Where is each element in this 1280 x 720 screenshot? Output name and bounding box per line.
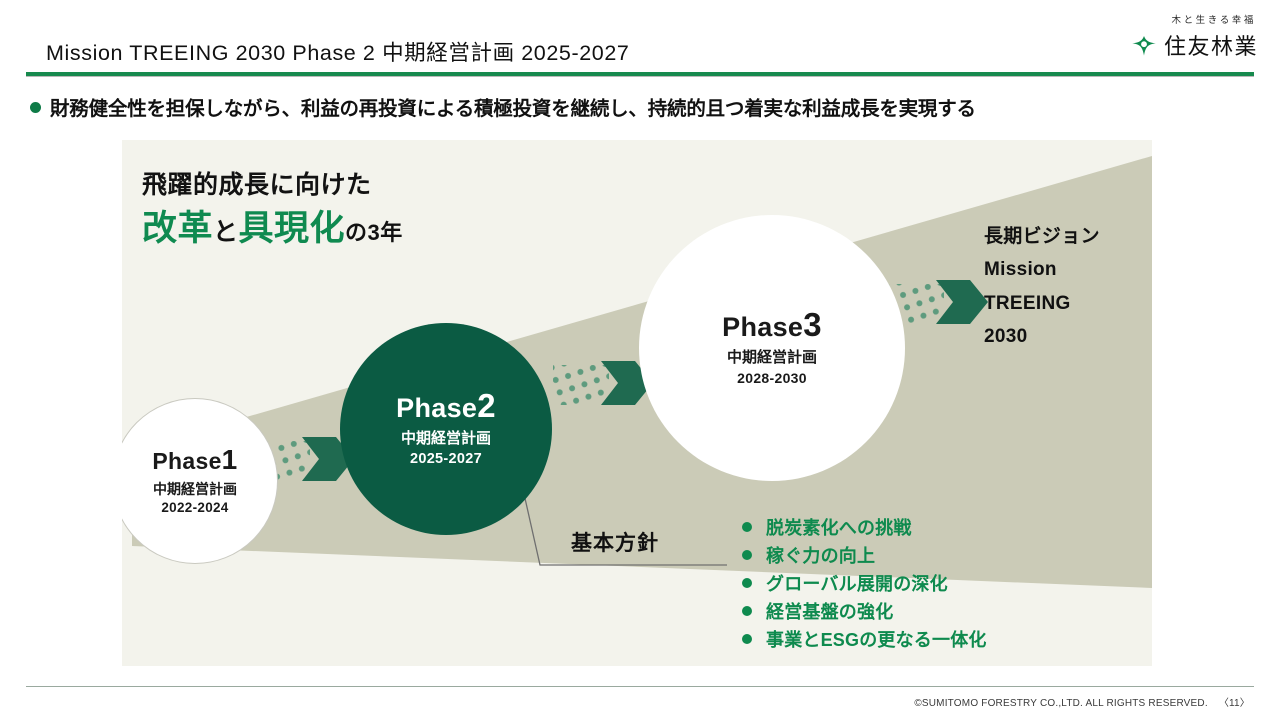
basic-policy-label: 基本方針 <box>571 527 659 557</box>
brand-tagline: 木と生きる幸福 <box>1058 12 1258 26</box>
headline-line-1: 飛躍的成長に向けた <box>142 170 662 201</box>
vision-line-4: 2030 <box>984 320 1152 353</box>
phase-2-subtitle: 中期経営計画 <box>401 430 491 449</box>
bullet-dot-icon <box>742 578 752 588</box>
phase-2-name: Phase2 <box>396 390 496 423</box>
vision-line-1: 長期ビジョン <box>984 220 1152 253</box>
footer: ©SUMITOMO FORESTRY CO.,LTD. ALL RIGHTS R… <box>914 694 1250 709</box>
arrow-phase3-to-vision <box>888 280 988 324</box>
phase-2-circle[interactable]: Phase2 中期経営計画 2025-2027 <box>340 323 552 535</box>
phase-3-subtitle: 中期経営計画 <box>727 349 817 368</box>
headline-tail: の3年 <box>345 220 403 245</box>
policy-item-label: 経営基盤の強化 <box>766 598 893 624</box>
footer-rule <box>26 686 1254 687</box>
list-item: 稼ぐ力の向上 <box>742 541 1082 569</box>
headline-accent-1: 改革 <box>142 209 213 248</box>
panel-headline: 飛躍的成長に向けた 改革と具現化の3年 <box>142 170 662 251</box>
phase-1-number: 1 <box>222 444 238 475</box>
phase-3-name: Phase3 <box>722 309 822 342</box>
long-term-vision-block: 長期ビジョン Mission TREEING 2030 <box>984 220 1152 353</box>
policy-item-label: 事業とESGの更なる一体化 <box>766 626 987 652</box>
headline-line-2: 改革と具現化の3年 <box>142 207 662 251</box>
phase-1-label: Phase <box>152 448 221 474</box>
sumitomo-forestry-logo-icon <box>1131 34 1157 56</box>
page-title: Mission TREEING 2030 Phase 2 中期経営計画 2025… <box>46 36 629 67</box>
phase-2-years: 2025-2027 <box>410 451 482 468</box>
phase-3-years: 2028-2030 <box>737 370 807 387</box>
headline-conjunction: と <box>213 218 239 246</box>
phase-1-name: Phase1 <box>152 446 237 474</box>
basic-policy-list: 脱炭素化への挑戦 稼ぐ力の向上 グローバル展開の深化 経営基盤の強化 事業とES… <box>742 513 1082 653</box>
arrow-phase2-to-phase3 <box>553 361 653 405</box>
headline-accent-2: 具現化 <box>239 209 346 248</box>
list-item: 経営基盤の強化 <box>742 597 1082 625</box>
policy-item-label: 脱炭素化への挑戦 <box>766 514 912 540</box>
vision-line-2: Mission <box>984 253 1152 286</box>
brand-name: 住友林業 <box>1164 29 1258 61</box>
slide-header: Mission TREEING 2030 Phase 2 中期経営計画 2025… <box>0 0 1280 80</box>
copyright-text: ©SUMITOMO FORESTRY CO.,LTD. ALL RIGHTS R… <box>914 698 1208 709</box>
phase-1-subtitle: 中期経営計画 <box>153 481 237 499</box>
bullet-dot-icon <box>30 102 41 113</box>
phase-2-label: Phase <box>396 393 477 423</box>
policy-item-label: 稼ぐ力の向上 <box>766 542 875 568</box>
phase-3-circle[interactable]: Phase3 中期経営計画 2028-2030 <box>639 215 905 481</box>
phase-3-number: 3 <box>803 306 822 343</box>
bullet-dot-icon <box>742 606 752 616</box>
bullet-dot-icon <box>742 634 752 644</box>
header-rule-grey <box>26 76 1254 77</box>
strategy-diagram-panel: 飛躍的成長に向けた 改革と具現化の3年 Phase1 中期経営計画 2022-2… <box>122 140 1152 666</box>
bullet-dot-icon <box>742 550 752 560</box>
brand-lockup: 木と生きる幸福 住友林業 <box>1058 12 1258 61</box>
lead-statement: 財務健全性を担保しながら、利益の再投資による積極投資を継続し、持続的且つ着実な利… <box>30 92 976 121</box>
vision-line-3: TREEING <box>984 287 1152 320</box>
phase-2-number: 2 <box>477 387 496 424</box>
lead-statement-text: 財務健全性を担保しながら、利益の再投資による積極投資を継続し、持続的且つ着実な利… <box>50 92 976 121</box>
list-item: 事業とESGの更なる一体化 <box>742 625 1082 653</box>
bullet-dot-icon <box>742 522 752 532</box>
list-item: 脱炭素化への挑戦 <box>742 513 1082 541</box>
phase-3-label: Phase <box>722 312 803 342</box>
policy-item-label: グローバル展開の深化 <box>766 570 948 596</box>
phase-1-years: 2022-2024 <box>161 500 228 516</box>
page-number: 〈11〉 <box>1219 698 1250 709</box>
list-item: グローバル展開の深化 <box>742 569 1082 597</box>
